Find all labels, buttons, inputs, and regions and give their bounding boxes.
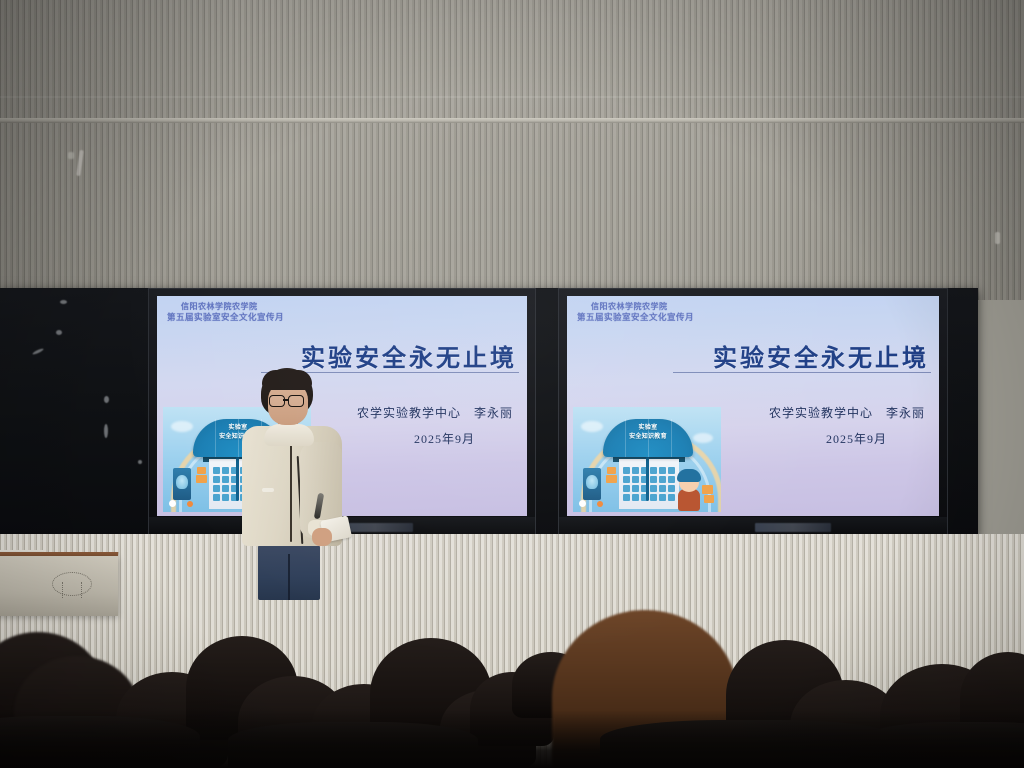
slide-presenter-2: 农学实验教学中心 李永丽 [769,404,925,421]
lecture-hall-photo: 信阳农林学院农学院 第五届实验室安全文化宣传月 实验安全永无止境 农学实验教学中… [0,0,1024,768]
slide-header-2: 信阳农林学院农学院 第五届实验室安全文化宣传月 [577,302,694,323]
slide-right: 信阳农林学院农学院 第五届实验室安全文化宣传月 实验安全永无止境 农学实验教学中… [567,296,939,516]
right-display[interactable]: 信阳农林学院农学院 第五届实验室安全文化宣传月 实验安全永无止境 农学实验教学中… [558,288,948,538]
presenter-collar [264,424,314,446]
slide-header-line1: 信阳农林学院农学院 [181,302,284,312]
slide-presenter: 农学实验教学中心 李永丽 [357,404,513,421]
glasses-icon-left [269,395,285,407]
character-hair-2 [677,469,701,482]
slide-header-line2: 第五届实验室安全文化宣传月 [167,312,284,323]
umbrella-text-line2-2: 安全知识教育 [603,433,693,442]
presenter-jacket-pocket [262,488,274,492]
presenter-hand [312,528,332,546]
right-display-brand-logo [755,523,831,532]
wall-shadow-right [764,0,1024,300]
presenter [236,368,346,600]
slide-title-2: 实验安全永无止境 [713,338,929,373]
right-display-screen[interactable]: 信阳农林学院农学院 第五届实验室安全文化宣传月 实验安全永无止境 农学实验教学中… [567,296,939,516]
lungs-icon [176,475,188,489]
umbrella-text-line1-2: 实验室 [603,424,693,433]
audience-foreground-shadow [0,710,1024,768]
glasses-icon-right [288,395,304,407]
presenter-fringe [262,370,312,390]
slide-date-2: 2025年9月 [826,430,887,447]
umbrella-text-2: 实验室 安全知识教育 [603,424,693,442]
slide-header: 信阳农林学院农学院 第五届实验室安全文化宣传月 [167,302,284,323]
lungs-icon-2 [586,475,598,489]
presenter-jacket-zip [290,434,292,542]
glasses-bridge [283,399,288,401]
slide-date: 2025年9月 [414,430,475,447]
slide-title-rule-2 [673,372,931,373]
slide-illustration-2: 实验室 安全知识教育 [573,407,721,512]
character-body-2 [678,489,700,511]
audience [0,578,1024,768]
building-windows-2 [623,467,675,501]
slide-header-line2-2: 第五届实验室安全文化宣传月 [577,312,694,323]
slide-header-line1-2: 信阳农林学院农学院 [591,302,694,312]
umbrella-pole-2 [646,455,649,501]
wall-shadow-left [0,0,240,300]
